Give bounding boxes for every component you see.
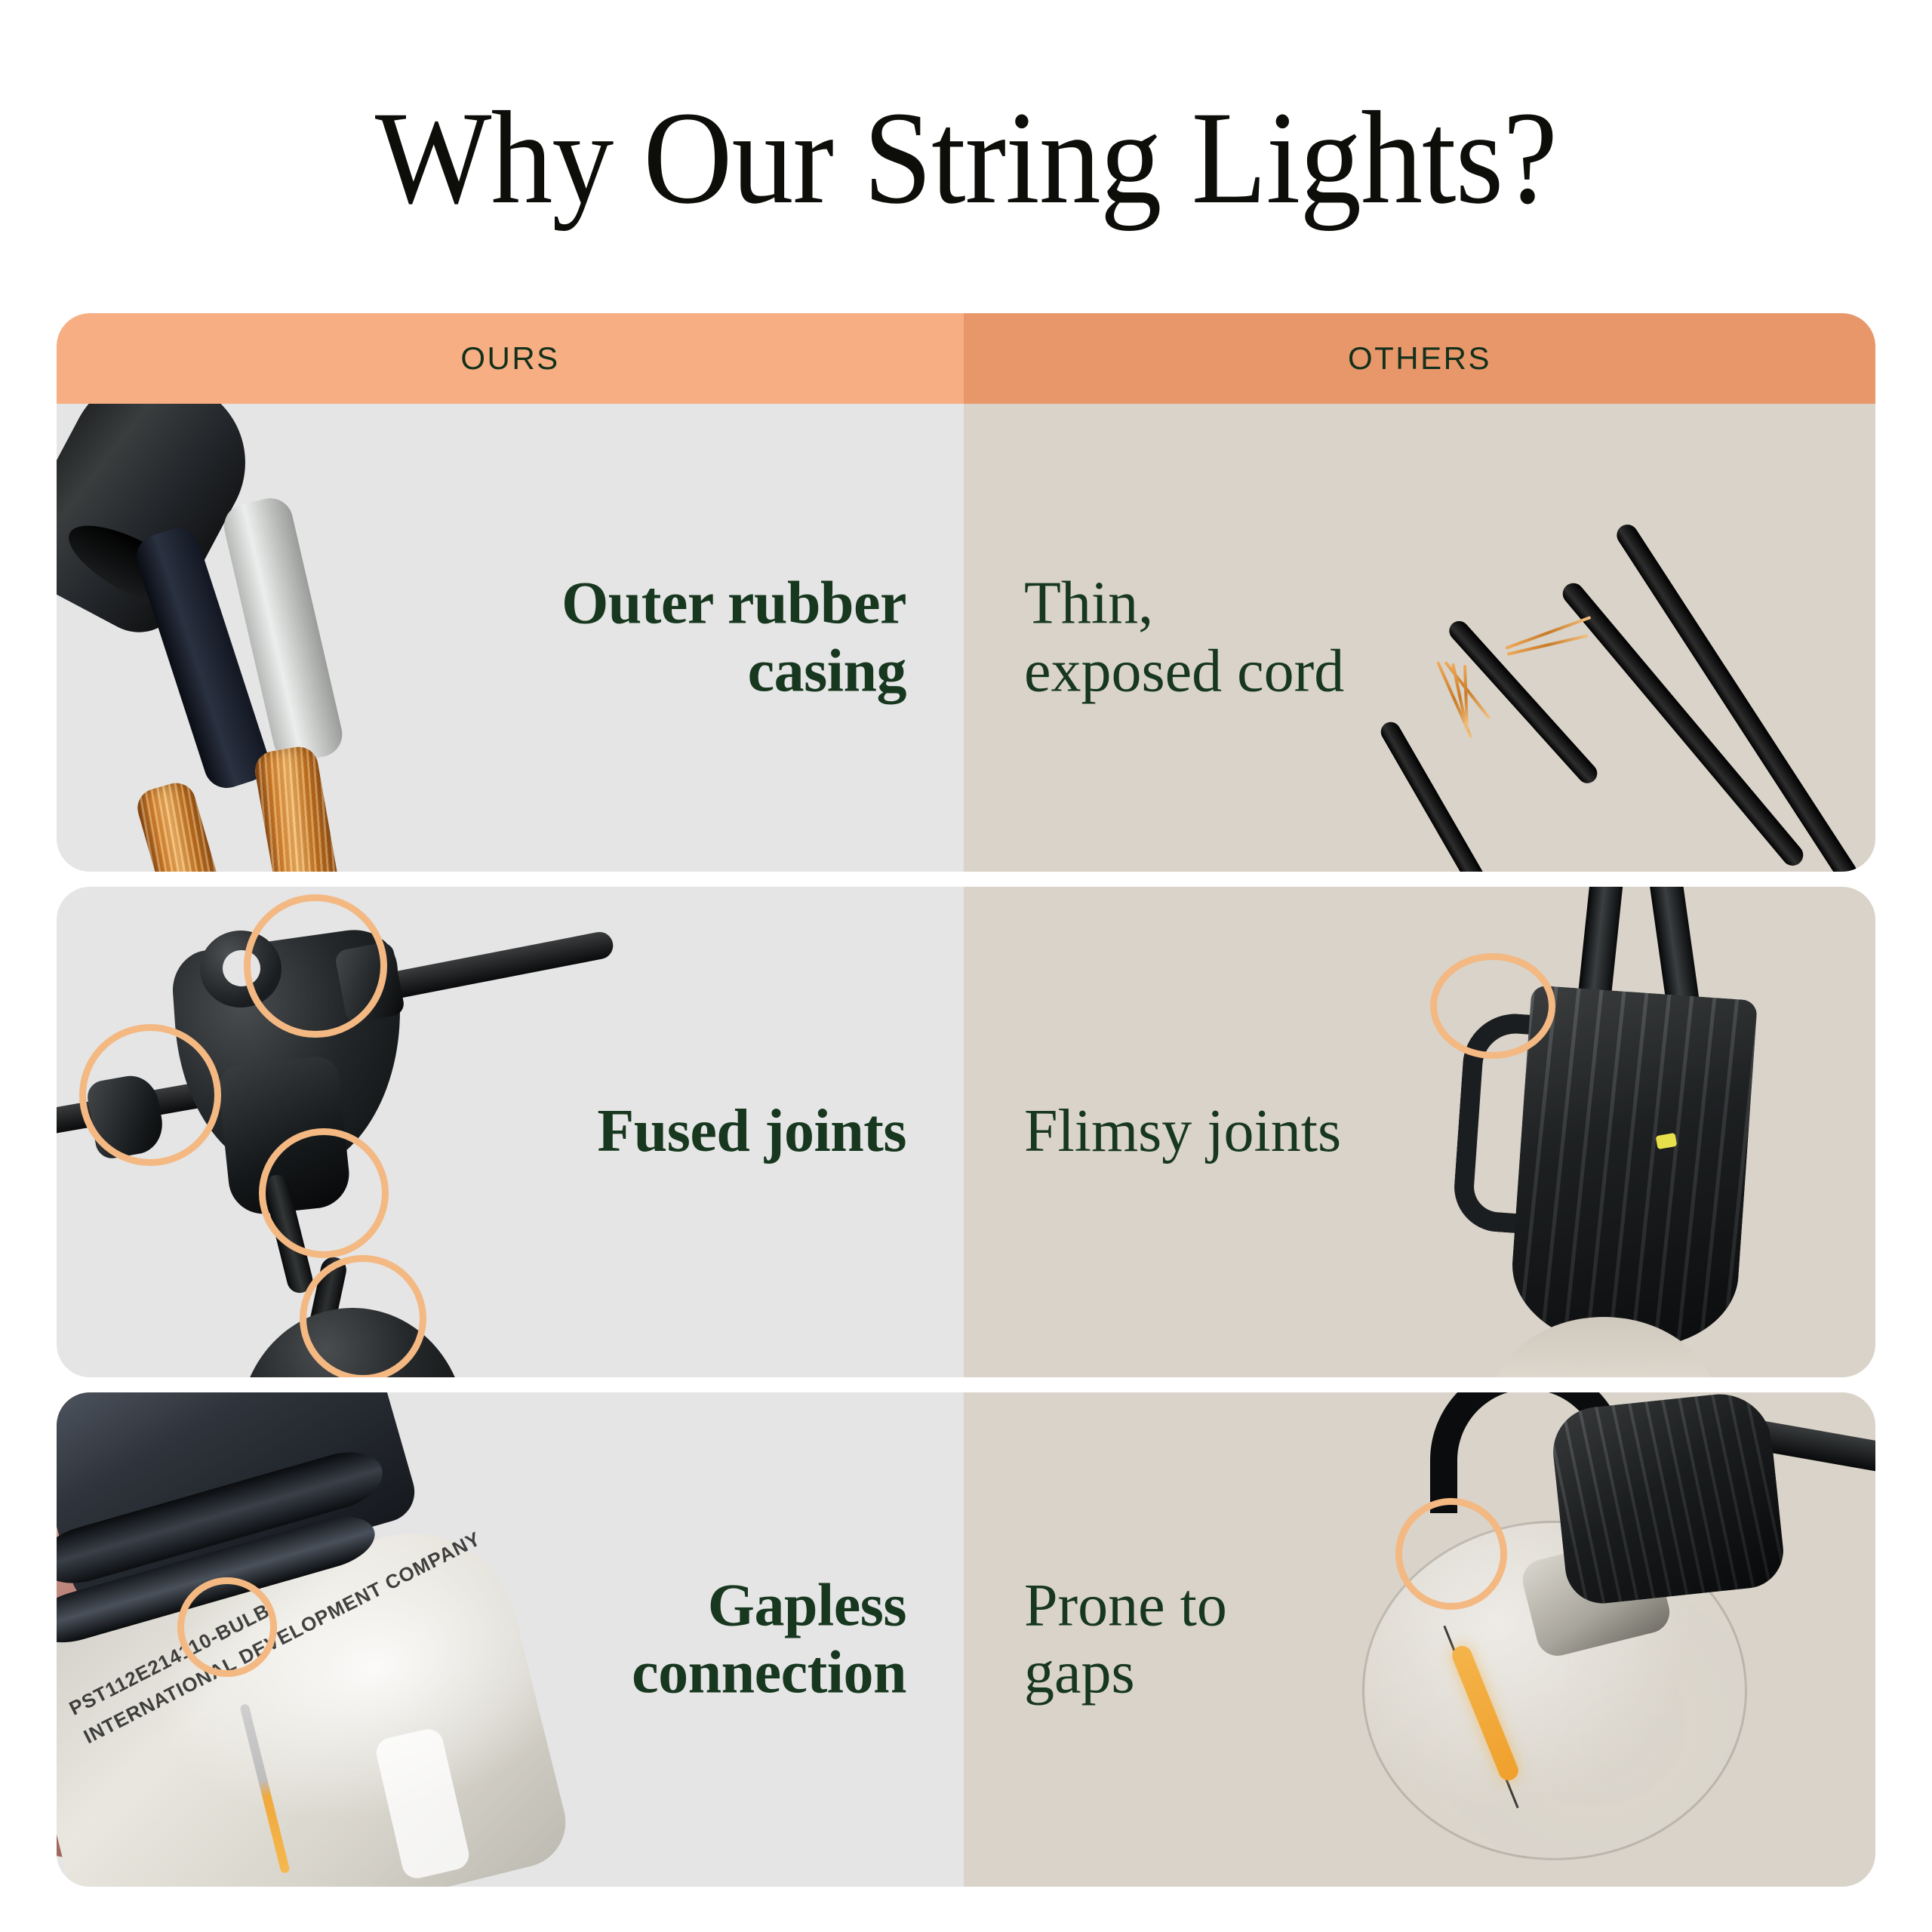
column-header-others: OTHERS	[964, 313, 1875, 404]
copper-strands-left	[133, 779, 235, 872]
row-label-ours: Fused joints	[597, 1098, 906, 1166]
fused-collar-left	[85, 1072, 168, 1161]
cell-others-casing: Thin, exposed cord	[964, 404, 1875, 872]
table-header-row: OURS OTHERS	[57, 313, 1875, 404]
column-header-ours: OURS	[57, 313, 964, 404]
table-row: Fused joints Flimsy joints	[57, 887, 1875, 1377]
table-row: PST112E214110-BULB INTERNATIONAL DEVELOP…	[57, 1392, 1875, 1887]
thick-rubber-cable-photo	[57, 404, 570, 872]
cell-ours-connection: PST112E214110-BULB INTERNATIONAL DEVELOP…	[57, 1392, 964, 1887]
bulb-socket	[239, 1308, 466, 1377]
page-title: Why Our String Lights?	[68, 89, 1865, 229]
ribbed-socket-body	[1507, 985, 1758, 1355]
connector-cord-right	[366, 930, 616, 1004]
bulb-socket	[1549, 1392, 1787, 1607]
comparison-table: OURS OTHERS Outer rubber casing Thin, ex…	[57, 313, 1875, 1887]
row-label-ours: Gapless connection	[632, 1572, 906, 1707]
cell-ours-casing: Outer rubber casing	[57, 404, 964, 872]
hanging-loop	[200, 931, 281, 1008]
comparison-infographic: Why Our String Lights? OURS OTHERS Outer…	[0, 0, 1932, 1932]
row-label-ours: Outer rubber casing	[561, 570, 906, 705]
row-label-others: Thin, exposed cord	[1024, 570, 1344, 705]
table-row: Outer rubber casing Thin, exposed cord	[57, 404, 1875, 872]
flimsy-socket-photo	[1355, 887, 1875, 1377]
cell-others-connection: Prone to gaps	[964, 1392, 1875, 1887]
row-label-others: Flimsy joints	[1024, 1098, 1341, 1166]
cell-others-joints: Flimsy joints	[964, 887, 1875, 1377]
thin-cord-cut	[1377, 718, 1493, 872]
thin-frayed-cord-photo	[1332, 404, 1875, 872]
copper-strands-right	[252, 744, 347, 872]
row-label-others: Prone to gaps	[1024, 1572, 1227, 1707]
cell-ours-joints: Fused joints	[57, 887, 964, 1377]
gapless-bulb-socket-photo: PST112E214110-BULB INTERNATIONAL DEVELOP…	[57, 1392, 577, 1887]
fused-t-connector-photo	[57, 887, 577, 1377]
gapped-globe-bulb-photo	[1347, 1392, 1875, 1887]
